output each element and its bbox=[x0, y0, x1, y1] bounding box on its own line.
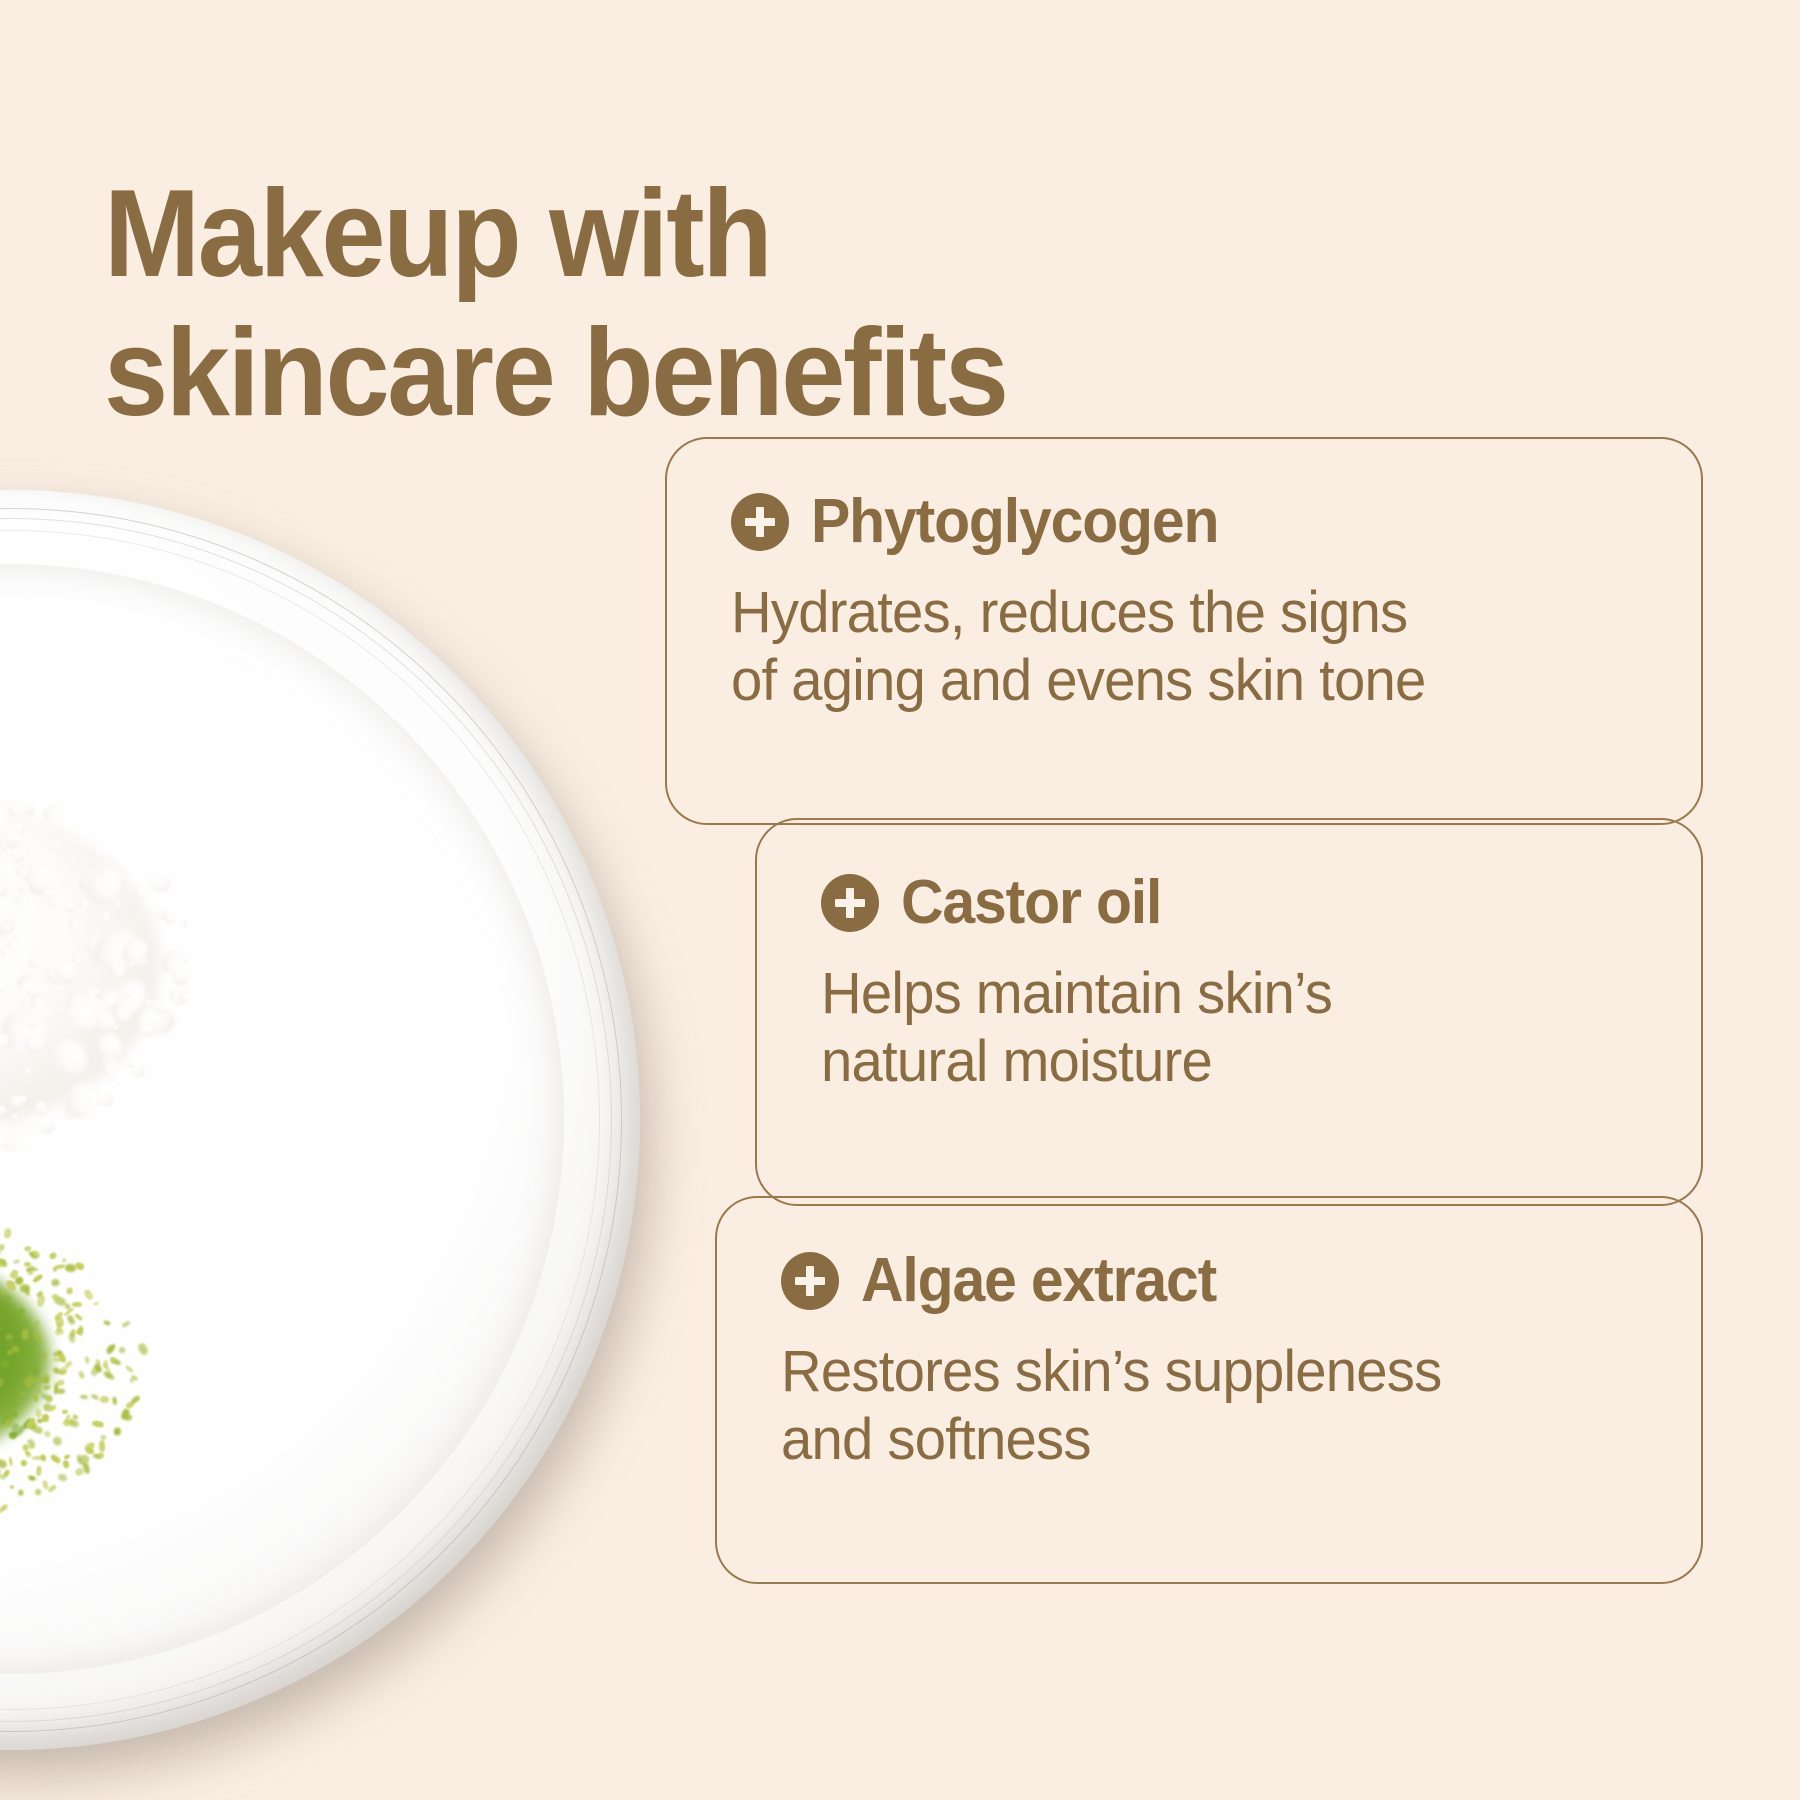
benefit-card-algae-extract[interactable]: Algae extract Restores skin’s suppleness… bbox=[715, 1196, 1703, 1584]
benefit-card-castor-oil[interactable]: Castor oil Helps maintain skin’s natural… bbox=[755, 818, 1703, 1206]
benefit-title-row: Castor oil bbox=[821, 872, 1661, 934]
plus-icon bbox=[731, 493, 789, 551]
benefit-title: Phytoglycogen bbox=[811, 491, 1218, 553]
benefit-card-phytoglycogen[interactable]: Phytoglycogen Hydrates, reduces the sign… bbox=[665, 437, 1703, 825]
benefit-title-row: Algae extract bbox=[781, 1250, 1661, 1312]
benefit-description: Hydrates, reduces the signs of aging and… bbox=[731, 579, 1633, 716]
benefit-description: Helps maintain skin’s natural moisture bbox=[821, 960, 1636, 1097]
benefit-title: Algae extract bbox=[861, 1250, 1216, 1312]
white-powder-pile bbox=[0, 740, 280, 1200]
green-algae-powder bbox=[0, 1180, 240, 1620]
plus-icon bbox=[781, 1252, 839, 1310]
benefit-title: Castor oil bbox=[901, 872, 1161, 934]
plus-icon bbox=[821, 874, 879, 932]
ingredient-photo bbox=[0, 490, 640, 1750]
promo-graphic: Makeup with skincare benefits Phytoglyco… bbox=[0, 0, 1800, 1800]
benefit-description: Restores skin’s suppleness and softness bbox=[781, 1338, 1635, 1475]
benefit-title-row: Phytoglycogen bbox=[731, 491, 1661, 553]
page-title: Makeup with skincare benefits bbox=[104, 165, 1267, 443]
